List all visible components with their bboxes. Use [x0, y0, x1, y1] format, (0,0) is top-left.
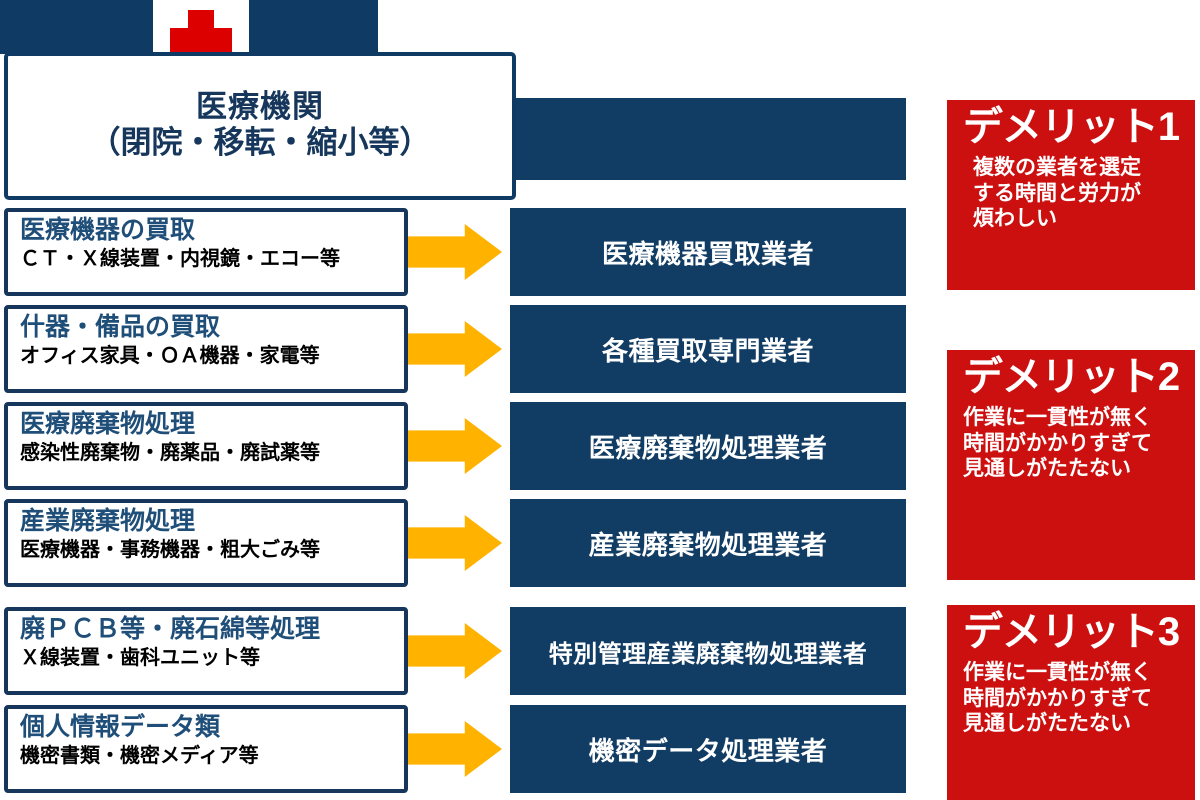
- service-card-1[interactable]: 医療機器の買取 ＣＴ・Ｘ線装置・内視鏡・エコー等: [4, 208, 408, 296]
- demerit-line: 作業に一貫性が無く: [963, 405, 1195, 431]
- vendor-label: 機密データ処理業者: [589, 731, 828, 768]
- service-title: 個人情報データ類: [20, 713, 404, 743]
- right-arrow-icon-5: [404, 623, 502, 679]
- demerit-card-3: デメリット3 作業に一貫性が無く 時間がかかりすぎて 見通しがたたない: [947, 605, 1195, 800]
- right-arrow-icon-3: [404, 418, 502, 474]
- demerit-line: 複数の業者を選定: [973, 155, 1195, 181]
- demerit-title: デメリット3: [947, 611, 1195, 654]
- vendor-card-3[interactable]: 医療廃棄物処理業者: [510, 402, 906, 490]
- right-arrow-icon-6: [404, 721, 502, 777]
- vendor-card-1[interactable]: 医療機器買取業者: [510, 208, 906, 296]
- service-title: 什器・備品の買取: [20, 313, 404, 343]
- right-arrow-icon-1: [404, 224, 502, 280]
- demerit-line: 見通しがたたない: [963, 711, 1195, 737]
- service-card-5[interactable]: 廃ＰＣＢ等・廃石綿等処理 Ｘ線装置・歯科ユニット等: [4, 607, 408, 695]
- service-title: 医療廃棄物処理: [20, 410, 404, 440]
- demerit-line: する時間と労力が: [973, 181, 1195, 207]
- vendor-card-2[interactable]: 各種買取専門業者: [510, 305, 906, 393]
- demerit-card-1: デメリット1 複数の業者を選定 する時間と労力が 煩わしい: [947, 100, 1195, 290]
- demerit-body: 複数の業者を選定 する時間と労力が 煩わしい: [947, 155, 1195, 232]
- demerit-title: デメリット1: [947, 106, 1195, 149]
- vendor-card-5[interactable]: 特別管理産業廃棄物処理業者: [510, 607, 906, 695]
- medical-institution-card: 医療機関 （閉院・移転・縮小等）: [4, 52, 516, 200]
- service-subtitle: 機密書類・機密メディア等: [20, 744, 404, 768]
- vendor-card-6[interactable]: 機密データ処理業者: [510, 705, 906, 793]
- service-title: 廃ＰＣＢ等・廃石綿等処理: [20, 615, 404, 645]
- diagram-canvas: 医療機関 （閉院・移転・縮小等） 医療機器の買取 ＣＴ・Ｘ線装置・内視鏡・エコー…: [0, 0, 1200, 800]
- demerit-line: 時間がかかりすぎて: [963, 686, 1195, 712]
- vendor-label: 特別管理産業廃棄物処理業者: [549, 634, 868, 669]
- vendor-label: 産業廃棄物処理業者: [589, 525, 828, 562]
- service-subtitle: 感染性廃棄物・廃薬品・廃試薬等: [20, 441, 404, 465]
- demerit-body: 作業に一貫性が無く 時間がかかりすぎて 見通しがたたない: [947, 405, 1195, 482]
- demerit-line: 時間がかかりすぎて: [963, 431, 1195, 457]
- vendor-card-0[interactable]: [510, 98, 906, 180]
- right-arrow-icon-2: [404, 321, 502, 377]
- demerit-body: 作業に一貫性が無く 時間がかかりすぎて 見通しがたたない: [947, 660, 1195, 737]
- vendor-label: 医療機器買取業者: [602, 234, 814, 271]
- service-card-3[interactable]: 医療廃棄物処理 感染性廃棄物・廃薬品・廃試薬等: [4, 402, 408, 490]
- vendor-label: 各種買取専門業者: [602, 331, 814, 368]
- service-title: 産業廃棄物処理: [20, 507, 404, 537]
- vendor-label: 医療廃棄物処理業者: [589, 428, 828, 465]
- demerit-line: 見通しがたたない: [963, 456, 1195, 482]
- demerit-line: 煩わしい: [973, 206, 1195, 232]
- service-subtitle: オフィス家具・ＯＡ機器・家電等: [20, 344, 404, 368]
- page-title: 医療機関: [55, 90, 465, 124]
- service-card-4[interactable]: 産業廃棄物処理 医療機器・事務機器・粗大ごみ等: [4, 499, 408, 587]
- service-subtitle: 医療機器・事務機器・粗大ごみ等: [20, 538, 404, 562]
- demerit-line: 作業に一貫性が無く: [963, 660, 1195, 686]
- right-arrow-icon-4: [404, 515, 502, 571]
- page-subtitle: （閉院・移転・縮小等）: [55, 124, 465, 163]
- service-card-6[interactable]: 個人情報データ類 機密書類・機密メディア等: [4, 705, 408, 793]
- demerit-title: デメリット2: [947, 356, 1195, 399]
- demerit-card-2: デメリット2 作業に一貫性が無く 時間がかかりすぎて 見通しがたたない: [947, 350, 1195, 580]
- service-card-2[interactable]: 什器・備品の買取 オフィス家具・ＯＡ機器・家電等: [4, 305, 408, 393]
- service-subtitle: ＣＴ・Ｘ線装置・内視鏡・エコー等: [20, 247, 404, 271]
- vendor-card-4[interactable]: 産業廃棄物処理業者: [510, 499, 906, 587]
- service-subtitle: Ｘ線装置・歯科ユニット等: [20, 646, 404, 670]
- red-cross-icon-bar: [170, 28, 232, 54]
- service-title: 医療機器の買取: [20, 216, 404, 246]
